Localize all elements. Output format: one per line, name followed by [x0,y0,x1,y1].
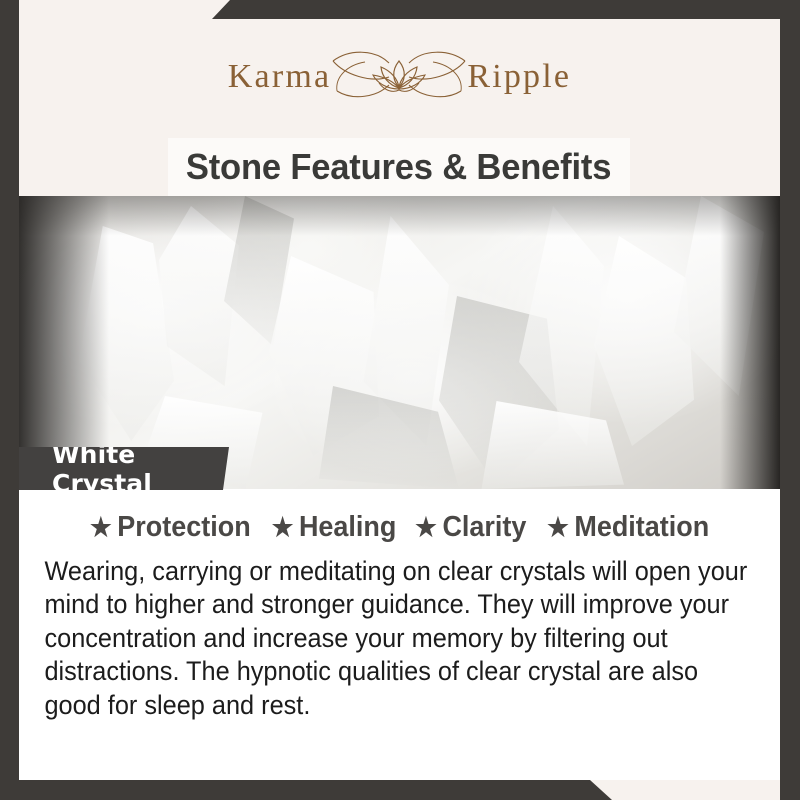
brand-logo: Karma Ripp [19,46,780,108]
brand-name-left: Karma [228,60,332,94]
photo-vignette-left [19,196,109,489]
stone-name-text: White Crystal [19,440,229,498]
star-icon: ★ [415,512,437,543]
benefit-label: Meditation [574,511,709,544]
benefit-item: ★ Clarity [415,511,526,544]
photo-vignette-top [19,196,780,236]
star-icon: ★ [272,512,294,543]
benefit-label: Healing [299,511,396,544]
page-title: Stone Features & Benefits [186,146,611,188]
frame-top-bar [0,0,800,19]
frame-left-bar [0,0,19,800]
benefit-item: ★ Healing [272,511,397,544]
photo-vignette-right [720,196,780,489]
star-icon: ★ [547,512,569,543]
stone-name-badge: White Crystal [19,447,229,490]
benefit-label: Clarity [442,511,526,544]
frame-right-bar [780,0,800,800]
benefit-item: ★ Protection [90,511,251,544]
content-area: ★ Protection ★ Healing ★ Clarity ★ Medit… [19,489,780,780]
benefit-item: ★ Meditation [547,511,709,544]
benefit-label: Protection [117,511,250,544]
brand-name-right: Ripple [467,60,571,94]
crystal-photo [19,196,780,489]
title-banner: Stone Features & Benefits [168,138,630,196]
stone-description: Wearing, carrying or meditating on clear… [33,555,761,722]
star-icon: ★ [90,512,112,543]
benefits-list: ★ Protection ★ Healing ★ Clarity ★ Medit… [33,511,766,544]
lotus-flower-icon [331,47,467,107]
